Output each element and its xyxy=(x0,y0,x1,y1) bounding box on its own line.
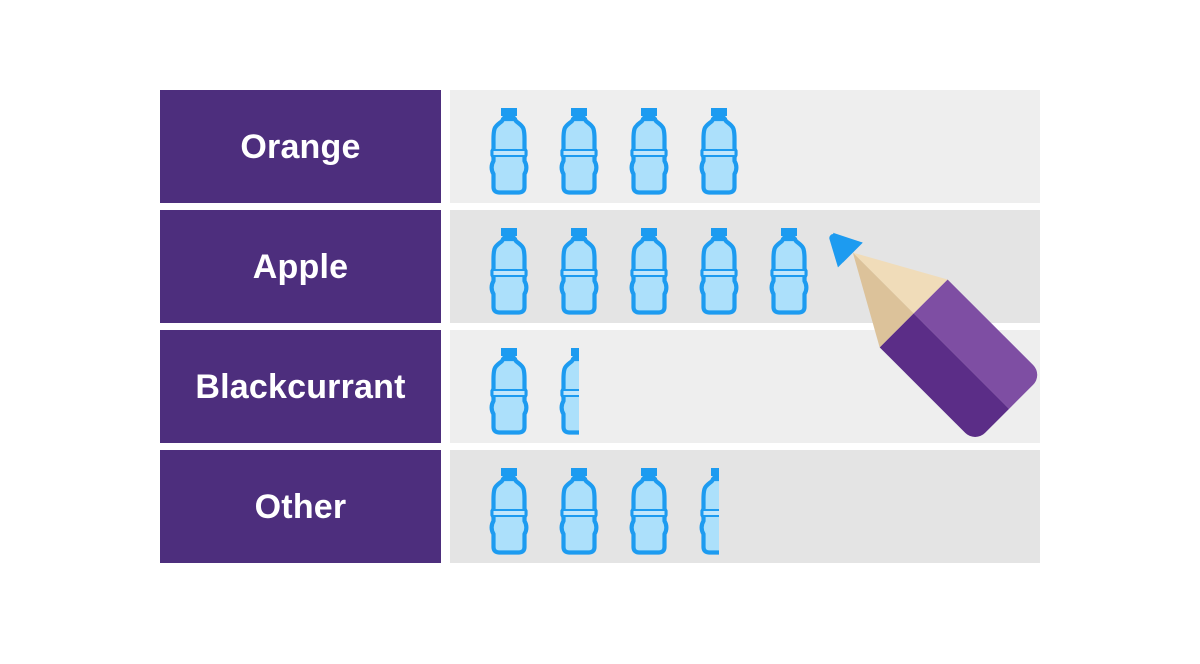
water-bottle-icon xyxy=(483,457,535,557)
row-label-apple: Apple xyxy=(160,210,441,323)
water-bottle-icon xyxy=(623,457,675,557)
chart-row-apple: Apple xyxy=(160,210,1040,323)
bottle-slot xyxy=(553,457,623,557)
bottle-slot xyxy=(553,217,623,317)
row-track-orange xyxy=(450,90,1040,203)
row-gap xyxy=(441,210,450,323)
water-bottle-icon xyxy=(693,97,745,197)
row-label-blackcurrant: Blackcurrant xyxy=(160,330,441,443)
row-track-apple xyxy=(450,210,1040,323)
water-bottle-icon xyxy=(623,97,675,197)
bottle-slot xyxy=(693,217,763,317)
chart-rows-container: Orange xyxy=(160,90,1040,570)
chart-row-blackcurrant: Blackcurrant xyxy=(160,330,1040,443)
chart-row-orange: Orange xyxy=(160,90,1040,203)
bottle-slot xyxy=(623,457,693,557)
row-gap xyxy=(441,90,450,203)
bottle-slot xyxy=(483,457,553,557)
bottle-slot-half xyxy=(693,457,763,557)
water-bottle-icon xyxy=(763,217,815,317)
bottle-slot xyxy=(763,217,833,317)
pictogram-chart: Orange xyxy=(0,0,1200,664)
water-bottle-icon xyxy=(483,217,535,317)
water-bottle-icon xyxy=(483,97,535,197)
bottle-slot xyxy=(553,97,623,197)
row-label-text: Apple xyxy=(253,250,348,284)
chart-row-other: Other xyxy=(160,450,1040,563)
bottle-slot xyxy=(623,217,693,317)
water-bottle-half-icon xyxy=(553,337,579,437)
row-label-orange: Orange xyxy=(160,90,441,203)
water-bottle-icon xyxy=(553,97,605,197)
bottle-slot xyxy=(483,337,553,437)
water-bottle-half-icon xyxy=(693,457,719,557)
bottle-slot-half xyxy=(553,337,623,437)
water-bottle-icon xyxy=(483,337,535,437)
row-gap xyxy=(441,450,450,563)
bottle-slot xyxy=(693,97,763,197)
row-track-blackcurrant xyxy=(450,330,1040,443)
row-label-text: Blackcurrant xyxy=(195,370,405,404)
bottle-slot xyxy=(623,97,693,197)
bottle-slot xyxy=(483,97,553,197)
water-bottle-icon xyxy=(553,457,605,557)
row-gap xyxy=(441,330,450,443)
water-bottle-icon xyxy=(553,217,605,317)
bottle-slot xyxy=(483,217,553,317)
water-bottle-icon xyxy=(693,217,745,317)
row-label-text: Orange xyxy=(240,130,360,164)
row-label-text: Other xyxy=(255,490,347,524)
water-bottle-icon xyxy=(623,217,675,317)
row-track-other xyxy=(450,450,1040,563)
row-label-other: Other xyxy=(160,450,441,563)
